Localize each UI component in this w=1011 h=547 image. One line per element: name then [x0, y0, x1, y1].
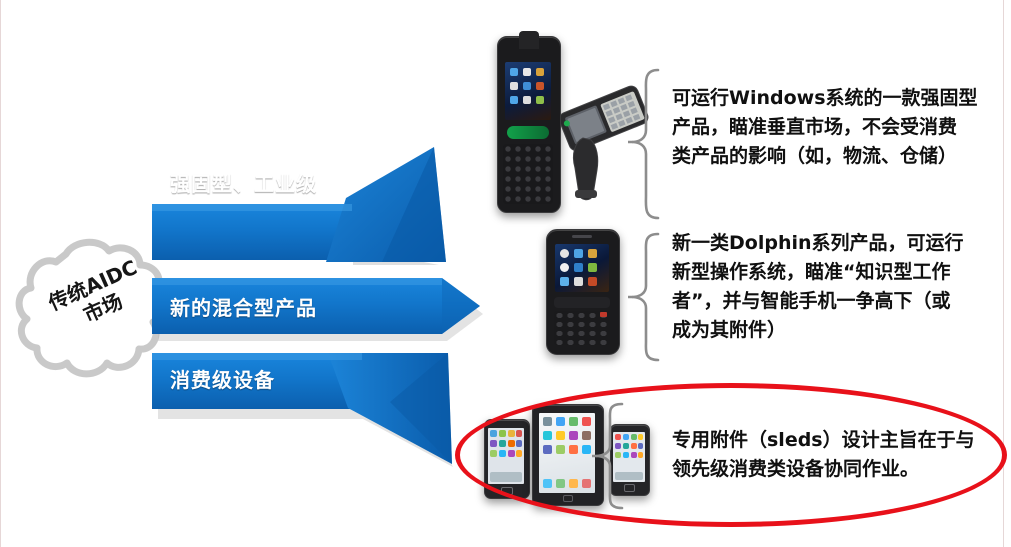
arrow-rugged-label: 强固型、工业级 — [170, 168, 317, 197]
rugged-handheld-keypad — [497, 36, 559, 211]
segment-hybrid-line4: 成为其附件） — [672, 316, 964, 345]
arrow-rugged[interactable]: 强固型、工业级 — [150, 138, 470, 268]
arrow-consumer-shape — [150, 342, 480, 472]
segment-rugged-text: 可运行Windows系统的一款强固型 产品，瞄准垂直市场，不会受消费 类产品的影… — [672, 84, 978, 171]
segment-hybrid-line2: 新型操作系统，瞄准“知识型工作 — [672, 258, 964, 287]
arrow-hybrid-label: 新的混合型产品 — [170, 292, 317, 321]
segment-rugged-line3: 类产品的影响（如，物流、仓储） — [672, 142, 978, 171]
segment-hybrid-line1: 新一类Dolphin系列产品，可运行 — [672, 229, 964, 258]
bracket-rugged — [628, 68, 668, 220]
bracket-rugged-shape — [628, 68, 668, 220]
segment-hybrid-text: 新一类Dolphin系列产品，可运行 新型操作系统，瞄准“知识型工作 者”，并与… — [672, 229, 964, 345]
slide-canvas: 传统AIDC 市场 强固型、工业级 — [0, 0, 1011, 547]
segment-consumer-line1: 专用附件（sleds）设计主旨在于与 — [672, 426, 975, 455]
segment-consumer-line2: 领先级消费类设备协同作业。 — [672, 455, 975, 484]
arrow-rugged-shape — [150, 138, 470, 268]
segment-hybrid-line3: 者”，并与智能手机一争高下（或 — [672, 287, 964, 316]
segment-rugged-line2: 产品，瞄准垂直市场，不会受消费 — [672, 113, 978, 142]
arrow-consumer-label: 消费级设备 — [170, 364, 275, 393]
arrow-consumer[interactable]: 消费级设备 — [150, 342, 480, 472]
slide-left-edge — [0, 0, 1, 547]
segment-rugged-line1: 可运行Windows系统的一款强固型 — [672, 84, 978, 113]
arrow-hybrid[interactable]: 新的混合型产品 — [150, 272, 490, 342]
bracket-hybrid — [628, 232, 668, 362]
bracket-hybrid-shape — [628, 232, 668, 362]
dolphin-keypad-smartphone — [546, 229, 618, 353]
segment-consumer-text: 专用附件（sleds）设计主旨在于与 领先级消费类设备协同作业。 — [672, 426, 975, 484]
